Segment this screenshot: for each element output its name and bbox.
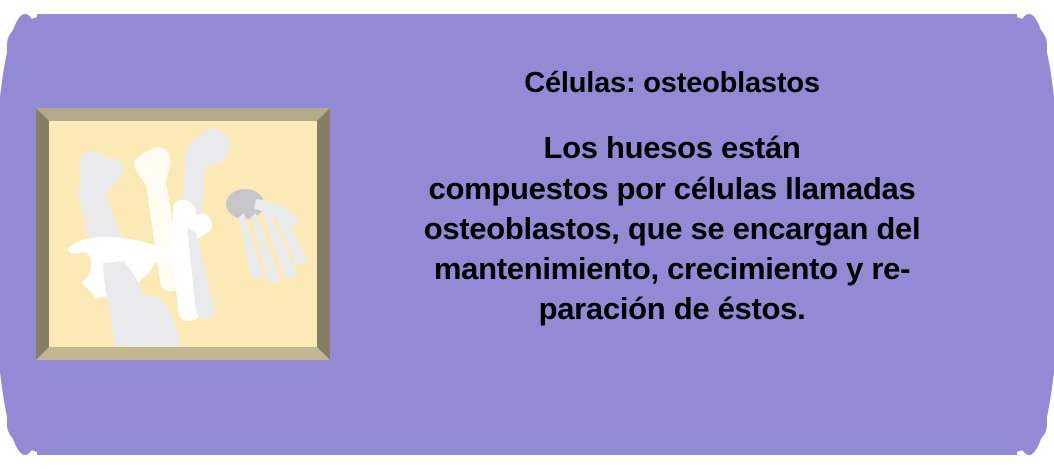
bones-illustration	[49, 121, 317, 347]
text-column: Células: osteoblastos Los huesos están c…	[360, 66, 984, 330]
slide-heading: Células: osteoblastos	[360, 66, 984, 100]
slide-root: Células: osteoblastos Los huesos están c…	[0, 0, 1054, 469]
slide-body-text: Los huesos están compuestos por células …	[360, 128, 984, 329]
picture-frame	[36, 108, 330, 360]
